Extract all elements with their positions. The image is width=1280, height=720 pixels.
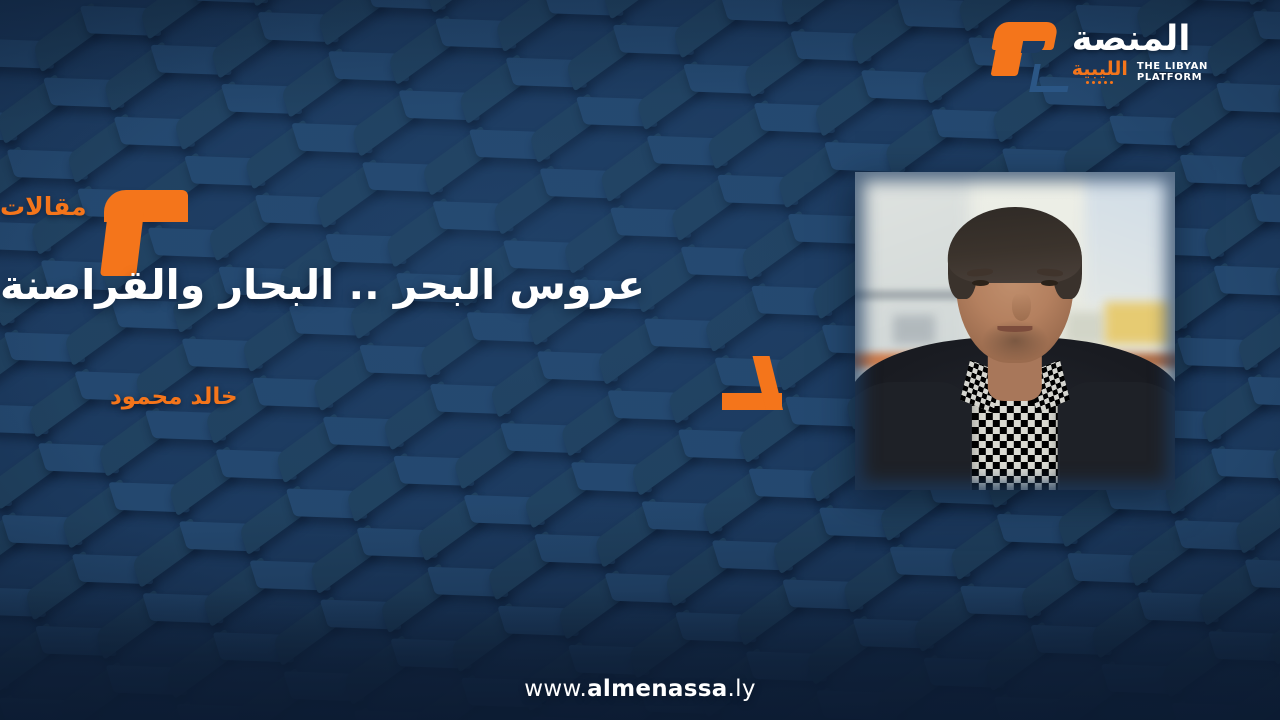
article-author-name: خالد محمود <box>110 384 238 410</box>
portrait-bg-object-left <box>893 315 935 344</box>
brand-arabic-sub: الليبية <box>1072 60 1128 79</box>
article-title: عروس البحر .. البحار والقراصنة <box>0 260 806 311</box>
brand-latin-line2: PLATFORM <box>1137 72 1208 83</box>
portrait-shoulder-left <box>855 382 970 490</box>
article-category-label: مقالات <box>0 192 87 221</box>
site-url-name: almenassa <box>587 676 727 702</box>
article-title-text: عروس البحر .. البحار والقراصنة <box>0 260 645 311</box>
article-author[interactable]: خالد محمود <box>110 384 430 410</box>
author-portrait-photo <box>855 172 1175 490</box>
brand-latin-text: THE LIBYAN PLATFORM <box>1137 61 1208 83</box>
brand-logo[interactable]: المنصة THE LIBYAN PLATFORM الليبية <box>988 18 1208 88</box>
site-url-suffix: .ly <box>728 676 756 702</box>
brand-arabic-main: المنصة <box>1072 22 1191 57</box>
brand-dots-ornament <box>1072 81 1128 84</box>
article-share-card: المنصة THE LIBYAN PLATFORM الليبية <box>0 0 1280 720</box>
portrait-bg-object-mid <box>1066 312 1104 344</box>
brand-arabic-sub-wrap: الليبية <box>1072 60 1128 84</box>
portrait-bg-window <box>1085 172 1175 306</box>
portrait-shoulder-right <box>1060 382 1175 490</box>
orange-angle-accent-icon <box>722 356 802 410</box>
portrait-beard <box>977 312 1054 360</box>
site-url[interactable]: www.almenassa.ly <box>0 676 1280 702</box>
almenassa-mark-icon <box>988 18 1064 88</box>
brand-logo-text: المنصة THE LIBYAN PLATFORM الليبية <box>1072 18 1208 84</box>
portrait-neck <box>988 356 1042 401</box>
brand-logo-second-row: THE LIBYAN PLATFORM الليبية <box>1072 60 1208 84</box>
brand-latin-line1: THE LIBYAN <box>1137 61 1208 72</box>
article-category[interactable]: مقالات <box>0 192 802 221</box>
site-url-prefix: www. <box>524 676 587 702</box>
portrait-bg-object-right <box>1105 302 1169 343</box>
portrait-mouth <box>997 326 1032 332</box>
